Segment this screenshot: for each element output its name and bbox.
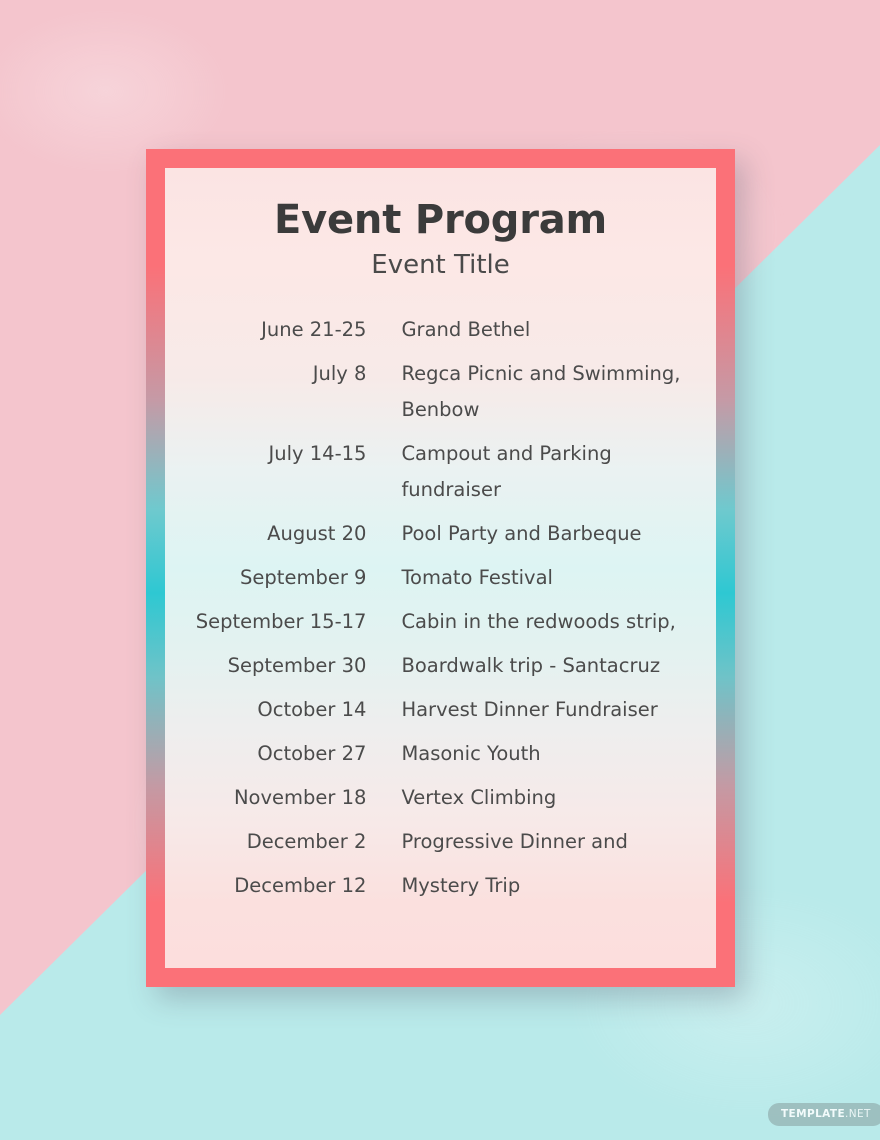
card-header: Event Program Event Title (165, 168, 716, 280)
event-subtitle: Event Title (165, 251, 716, 280)
schedule-row-event: Pool Party and Barbeque (401, 508, 716, 552)
schedule-row-event: Boardwalk trip - Santacruz (401, 640, 716, 684)
schedule-row-date: October 27 (165, 728, 401, 772)
schedule-row-date: November 18 (165, 772, 401, 816)
schedule-row-date: October 14 (165, 684, 401, 728)
schedule-row-event: Mystery Trip (401, 860, 716, 904)
schedule-row-event: Progressive Dinner and (401, 816, 716, 860)
schedule-row-date: July 14-15 (165, 428, 401, 508)
schedule-row: December 12Mystery Trip (165, 860, 716, 904)
schedule-row-date: December 2 (165, 816, 401, 860)
schedule-row: December 2Progressive Dinner and (165, 816, 716, 860)
schedule-row: July 14-15Campout and Parking fundraiser (165, 428, 716, 508)
schedule-row-event: Masonic Youth (401, 728, 716, 772)
schedule-row-event: Regca Picnic and Swimming, Benbow (401, 348, 716, 428)
watermark-primary-text: TEMPLATE (781, 1108, 845, 1120)
schedule-row-date: June 21-25 (165, 312, 401, 348)
schedule-row-event: Grand Bethel (401, 312, 716, 348)
schedule-row-event: Harvest Dinner Fundraiser (401, 684, 716, 728)
schedule-row-event: Vertex Climbing (401, 772, 716, 816)
schedule-row: October 14Harvest Dinner Fundraiser (165, 684, 716, 728)
schedule-row: September 15-17Cabin in the redwoods str… (165, 596, 716, 640)
schedule-row: October 27Masonic Youth (165, 728, 716, 772)
schedule-body: June 21-25Grand BethelJuly 8Regca Picnic… (165, 312, 716, 904)
schedule-row: September 30Boardwalk trip - Santacruz (165, 640, 716, 684)
schedule-row: September 9Tomato Festival (165, 552, 716, 596)
schedule-row: November 18Vertex Climbing (165, 772, 716, 816)
card-inner-panel: Event Program Event Title June 21-25Gran… (165, 168, 716, 968)
schedule-row-date: September 9 (165, 552, 401, 596)
watermark-suffix-text: .NET (845, 1108, 871, 1120)
schedule-row: July 8Regca Picnic and Swimming, Benbow (165, 348, 716, 428)
event-program-card: Event Program Event Title June 21-25Gran… (146, 149, 735, 987)
schedule-row-date: August 20 (165, 508, 401, 552)
schedule-row-date: December 12 (165, 860, 401, 904)
schedule-row-event: Tomato Festival (401, 552, 716, 596)
schedule-row-date: September 30 (165, 640, 401, 684)
schedule-table: June 21-25Grand BethelJuly 8Regca Picnic… (165, 312, 716, 904)
schedule-row-date: July 8 (165, 348, 401, 428)
schedule-row-date: September 15-17 (165, 596, 401, 640)
schedule-row: August 20Pool Party and Barbeque (165, 508, 716, 552)
template-net-watermark: TEMPLATE.NET (768, 1103, 880, 1126)
schedule-row-event: Campout and Parking fundraiser (401, 428, 716, 508)
schedule-row-event: Cabin in the redwoods strip, (401, 596, 716, 640)
page-title: Event Program (165, 199, 716, 241)
schedule-row: June 21-25Grand Bethel (165, 312, 716, 348)
